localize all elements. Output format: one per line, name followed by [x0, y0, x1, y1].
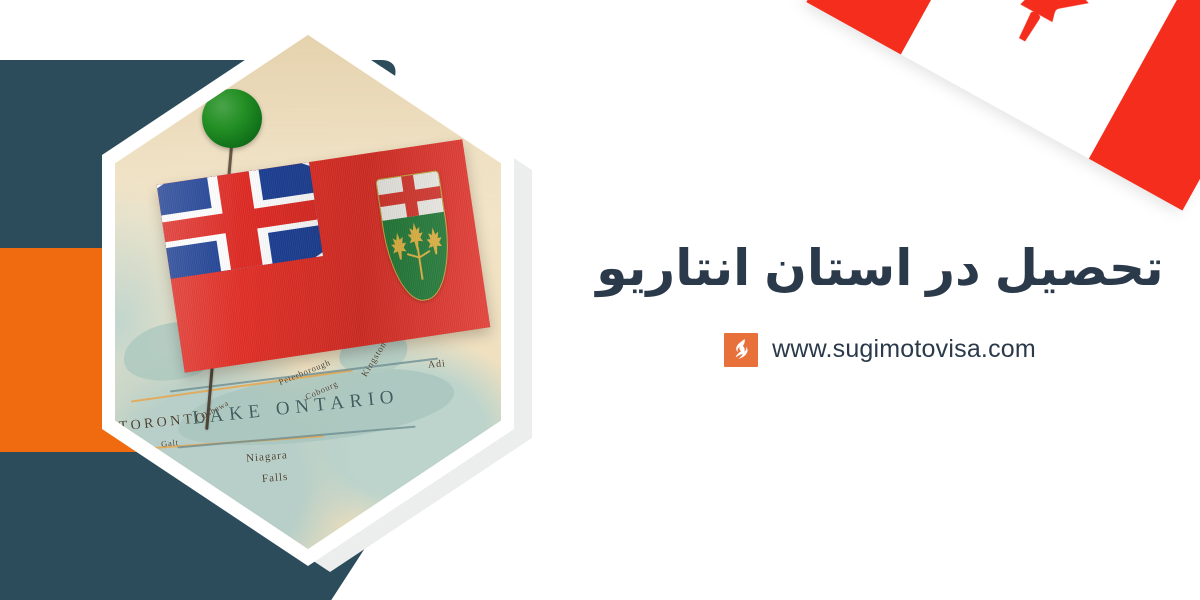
hexagon-photo-medallion: LAKE ONTARIO OTTAWA TORONTO Niagara Fall…	[102, 18, 532, 586]
ontario-shield-icon	[375, 170, 457, 306]
flame-mark-icon	[724, 333, 758, 367]
promo-banner: LAKE ONTARIO OTTAWA TORONTO Niagara Fall…	[0, 0, 1200, 600]
banner-content: تحصیل در استان انتاریو www.sugimotovisa.…	[560, 0, 1200, 600]
map-label-falls: Falls	[261, 471, 288, 485]
page-title: تحصیل در استان انتاریو	[596, 234, 1163, 303]
website-url[interactable]: www.sugimotovisa.com	[772, 335, 1036, 364]
brand-line: www.sugimotovisa.com	[724, 333, 1036, 367]
map-label-adi: Adi	[427, 358, 446, 371]
